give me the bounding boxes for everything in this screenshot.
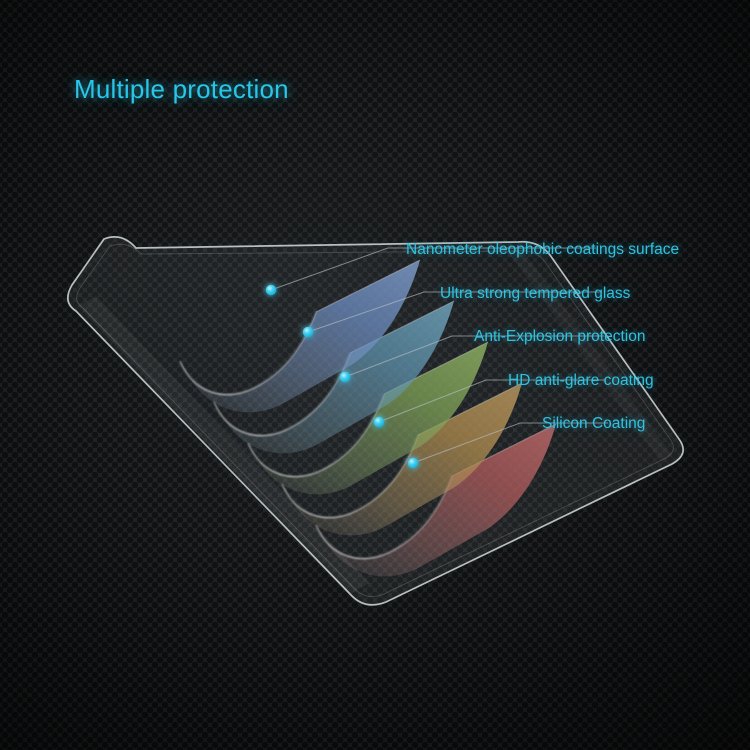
marker-dot-3 bbox=[340, 372, 350, 382]
marker-dot-5 bbox=[408, 458, 418, 468]
callout-label-silicon-coating: Silicon Coating bbox=[542, 415, 645, 433]
callout-label-tempered-glass: Ultra strong tempered glass bbox=[440, 285, 630, 303]
callout-label-hd-anti-glare: HD anti-glare coating bbox=[508, 372, 654, 390]
marker-dot-2 bbox=[303, 327, 313, 337]
marker-dot-1 bbox=[266, 285, 276, 295]
callout-label-oleophobic-coating: Nanometer oleophobic coatings surface bbox=[406, 241, 679, 259]
screen-protector-infographic: Multiple protection bbox=[0, 0, 750, 750]
callout-label-anti-explosion: Anti-Explosion protection bbox=[474, 328, 645, 346]
marker-dot-4 bbox=[374, 417, 384, 427]
